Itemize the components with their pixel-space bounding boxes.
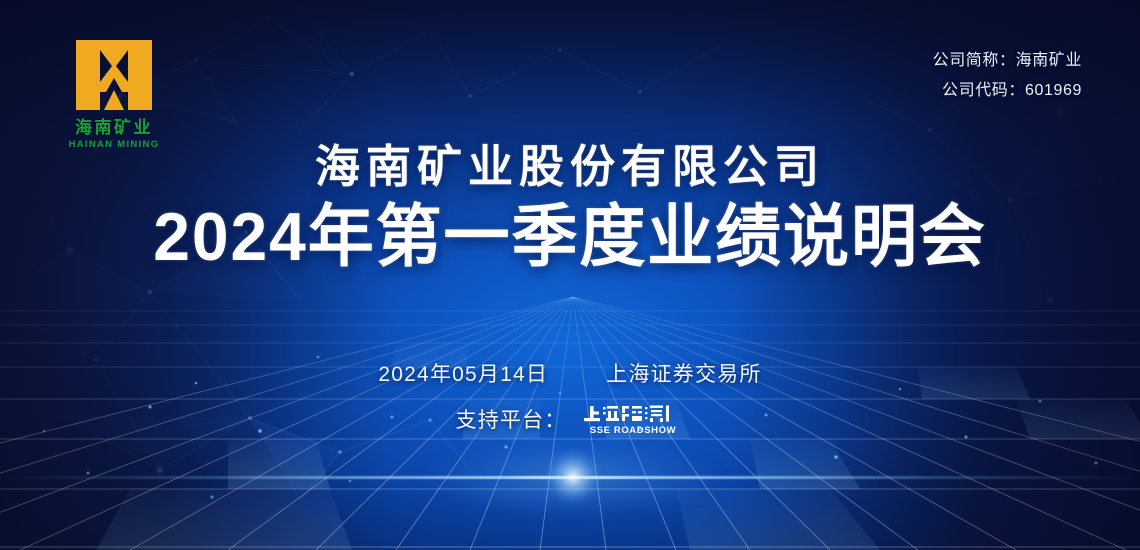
sse-roadshow-logo-icon: SSE ROADSHOW [581,402,685,436]
hainan-mining-m-mark-icon [70,36,158,114]
event-meta: 2024年05月14日 上海证券交易所 [0,358,1140,388]
company-abbr: 公司简称：海南矿业 [933,46,1082,76]
company-info: 公司简称：海南矿业 公司代码：601969 [933,46,1082,105]
company-logo: 海南矿业 HAINAN MINING [44,36,184,150]
support-platform: 支持平台： [0,402,1140,436]
platform-label: 支持平台： [456,404,567,434]
lens-flare-core [546,450,600,504]
presentation-banner: 海南矿业 HAINAN MINING 公司简称：海南矿业 公司代码：601969… [0,0,1140,550]
logo-name-cn: 海南矿业 [44,119,184,137]
event-venue: 上海证券交易所 [606,363,761,386]
sse-roadshow-wordmark: SSE ROADSHOW [589,425,675,436]
title-block: 海南矿业股份有限公司 2024年第一季度业绩说明会 [0,142,1140,277]
page-title-line1: 海南矿业股份有限公司 [0,142,1140,192]
event-date: 2024年05月14日 [378,363,548,386]
company-code: 公司代码：601969 [933,76,1082,106]
page-title-line2: 2024年第一季度业绩说明会 [17,198,1123,276]
